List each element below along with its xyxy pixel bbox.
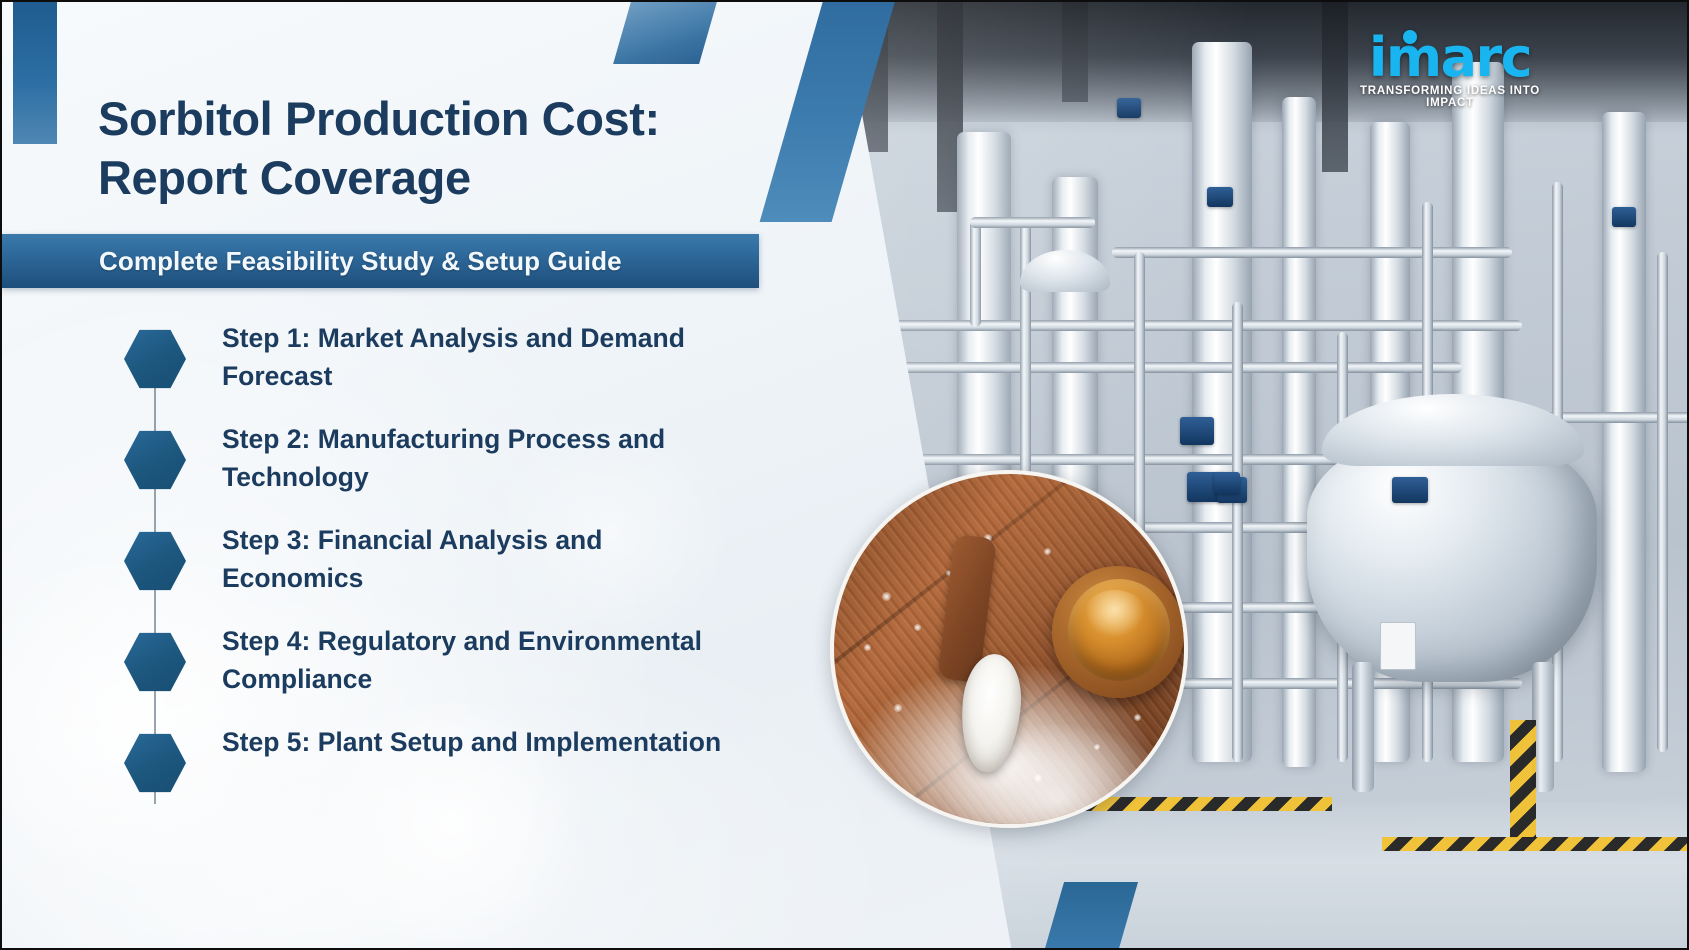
sugar-speck [882, 592, 891, 601]
accent-parallelogram-small [613, 2, 717, 64]
vertical-pipe [1422, 202, 1433, 762]
step-item: Step 1: Market Analysis and Demand Forec… [2, 322, 762, 423]
hexagon-icon [124, 429, 186, 491]
accent-bar-top-left [13, 2, 57, 144]
horizontal-pipe [1112, 247, 1512, 258]
step-label-2: Step 2: Manufacturing Process and Techno… [222, 421, 742, 496]
page-title-line-2: Report Coverage [98, 149, 758, 208]
reactor-leg [1532, 662, 1554, 792]
step-label-4: Step 4: Regulatory and Environmental Com… [222, 623, 742, 698]
valve [1217, 477, 1247, 503]
valve [1392, 477, 1428, 503]
imarc-logo[interactable]: imarc TRANSFORMING IDEAS INTO IMPACT [1350, 32, 1550, 109]
sorbitol-product-photo [830, 470, 1188, 828]
sugar-speck [894, 704, 902, 712]
vertical-pipe [1552, 182, 1563, 762]
page-title: Sorbitol Production Cost: Report Coverag… [98, 90, 758, 208]
step-item: Step 5: Plant Setup and Implementation [2, 726, 762, 827]
infographic-canvas: Sorbitol Production Cost: Report Coverag… [0, 0, 1689, 950]
step-marker-1 [124, 328, 186, 390]
ceiling-beam [1062, 2, 1088, 102]
step-item: Step 4: Regulatory and Environmental Com… [2, 625, 762, 726]
process-tower [1282, 97, 1316, 767]
process-tower [1370, 122, 1410, 762]
step-marker-5 [124, 732, 186, 794]
hazard-stripe-post [1510, 720, 1536, 838]
step-marker-4 [124, 631, 186, 693]
page-title-line-1: Sorbitol Production Cost: [98, 90, 758, 149]
reactor-dome [1322, 394, 1584, 466]
column-head [1020, 250, 1110, 292]
sugar-speck [914, 624, 921, 631]
valve [1180, 417, 1214, 445]
step-label-5: Step 5: Plant Setup and Implementation [222, 724, 721, 762]
valve [1612, 207, 1636, 227]
process-tower [1452, 62, 1504, 762]
step-label-1: Step 1: Market Analysis and Demand Forec… [222, 320, 742, 395]
logo-wordmark: imarc [1350, 32, 1550, 83]
subtitle-text: Complete Feasibility Study & Setup Guide [99, 246, 622, 277]
reactor-leg [1352, 662, 1374, 792]
horizontal-pipe [1402, 412, 1689, 423]
hazard-stripe-floor [1382, 837, 1689, 851]
hexagon-icon [124, 328, 186, 390]
step-marker-3 [124, 530, 186, 592]
valve [1187, 472, 1225, 502]
process-tower [1192, 42, 1252, 762]
reactor-vessel [1307, 432, 1597, 682]
logo-dot-icon [1403, 30, 1417, 44]
vertical-pipe [1657, 252, 1668, 752]
vertical-pipe [1337, 332, 1348, 762]
sugar-speck [864, 644, 871, 651]
process-tower [1602, 112, 1646, 772]
step-label-3: Step 3: Financial Analysis and Economics [222, 522, 742, 597]
sugar-speck [1034, 774, 1042, 782]
step-item: Step 2: Manufacturing Process and Techno… [2, 423, 762, 524]
vertical-pipe [1232, 302, 1243, 762]
ceiling-beam [1322, 2, 1348, 172]
equipment-tag [1380, 622, 1416, 670]
vertical-pipe [970, 217, 981, 327]
hexagon-icon [124, 530, 186, 592]
ceiling-beam [937, 2, 963, 212]
sugar-speck [1044, 548, 1051, 555]
valve [1214, 472, 1240, 494]
sugar-speck [1094, 744, 1100, 750]
valve [1207, 187, 1233, 207]
hexagon-icon [124, 732, 186, 794]
step-item: Step 3: Financial Analysis and Economics [2, 524, 762, 625]
logo-tagline: TRANSFORMING IDEAS INTO IMPACT [1350, 85, 1550, 109]
hexagon-icon [124, 631, 186, 693]
step-marker-2 [124, 429, 186, 491]
subtitle-banner: Complete Feasibility Study & Setup Guide [2, 234, 759, 288]
syrup-highlight [1084, 590, 1146, 638]
sugar-speck [1134, 714, 1141, 721]
horizontal-pipe [970, 217, 1095, 228]
valve [1117, 98, 1141, 118]
steps-list: Step 1: Market Analysis and Demand Forec… [2, 322, 762, 827]
